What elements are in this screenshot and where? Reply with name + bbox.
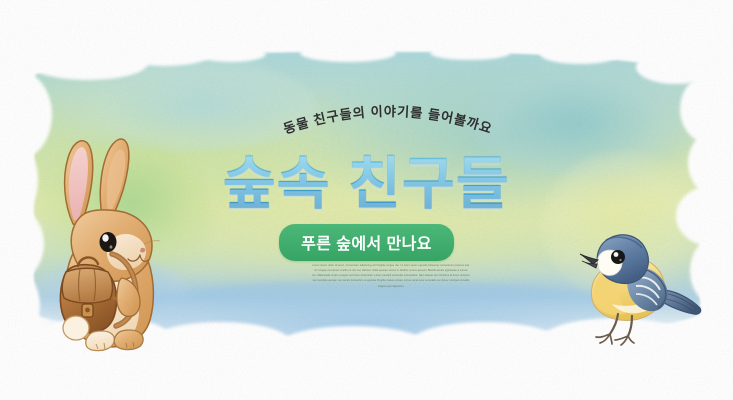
wash-edge-chip	[28, 46, 148, 80]
bird-eye	[611, 250, 625, 264]
bird-head	[597, 235, 648, 284]
wash-edge-chip	[300, 44, 396, 62]
rabbit-eye	[100, 232, 117, 252]
wash-edge-chip	[680, 74, 733, 144]
wash-edge-chip	[196, 46, 266, 62]
watercolor-wash-bottom-blue	[120, 282, 640, 346]
rabbit-illustration	[40, 128, 185, 353]
forest-friends-banner: 동물 친구들의 이야기를 들어볼까요 숲속 친구들 푸른 숲에서 만나요 Lor…	[0, 0, 733, 400]
wash-edge-chip	[120, 44, 210, 66]
arc-subheading-label: 동물 친구들의 이야기를 들어볼까요	[282, 103, 495, 137]
wash-edge-chip	[540, 44, 620, 64]
status-badge[interactable]: 푸른 숲에서 만나요	[279, 224, 454, 261]
wash-edge-chip	[410, 322, 560, 364]
rabbit-left-foot	[86, 331, 115, 351]
wash-edge-chip	[636, 50, 716, 84]
wash-edge-chip	[430, 46, 510, 60]
wash-edge-chip	[278, 326, 428, 366]
bird-beak	[580, 254, 598, 268]
arc-subheading: 동물 친구들의 이야기를 들어볼까요	[238, 96, 538, 154]
rabbit-tail	[63, 316, 89, 340]
bird-illustration	[576, 216, 704, 346]
wash-edge-chip	[0, 268, 40, 344]
body-paragraph: Lorem ipsum dolor sit amet, consectetur …	[312, 263, 470, 289]
rabbit-right-foot	[114, 330, 143, 350]
